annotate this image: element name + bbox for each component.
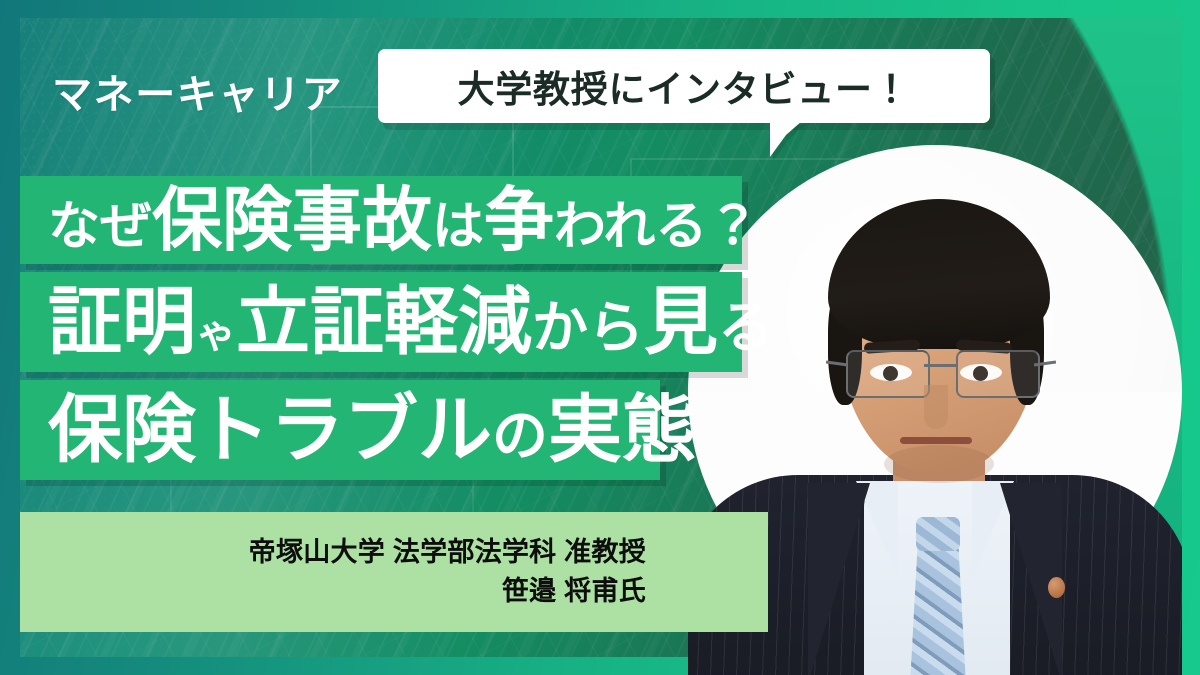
nose	[924, 385, 948, 429]
thumbnail-canvas: マネーキャリア 大学教授にインタビュー！	[0, 0, 1200, 675]
headline-3-seg-c: 実態	[548, 393, 696, 467]
headline-3-seg-b: の	[492, 408, 548, 464]
headline-line-2: 証明 ゃ 立証軽減 から 見 る	[20, 272, 742, 372]
brand-logo: マネーキャリア	[52, 62, 343, 120]
necktie-knot	[916, 517, 960, 551]
necktie	[910, 541, 966, 675]
lens-left	[846, 350, 930, 398]
headline-1-seg-b: 保険事故	[152, 185, 432, 255]
headline-3-seg-a: 保険トラブル	[48, 393, 492, 467]
interview-badge-label: 大学教授にインタビュー！	[458, 59, 911, 113]
hair-top	[828, 199, 1050, 349]
headline-2-seg-c: 立証軽減	[236, 285, 532, 359]
glasses-bridge	[924, 364, 958, 367]
credit-panel: 帝塚山大学 法学部法学科 准教授 笹邉 将甫氏	[20, 512, 768, 632]
headline-1-seg-d: 争	[484, 185, 554, 255]
headline-1-seg-e: われる？	[554, 201, 759, 253]
headline-2-seg-e: 見	[644, 285, 718, 359]
lapel-left	[808, 483, 870, 675]
headline-line-1: なぜ 保険事故 は 争 われる？	[20, 176, 742, 264]
headline-1-seg-a: なぜ	[48, 201, 152, 253]
headline-2-seg-d: から	[532, 300, 644, 356]
mouth	[900, 437, 972, 444]
interview-badge: 大学教授にインタビュー！	[378, 49, 990, 123]
lens-right	[956, 350, 1040, 398]
credit-name: 笹邉 将甫氏	[502, 572, 646, 611]
headline-line-3: 保険トラブル の 実態	[20, 380, 660, 480]
headline-2-seg-a: 証明	[48, 285, 196, 359]
headline-2-seg-b: ゃ	[196, 314, 236, 354]
lapel-pin	[1048, 577, 1065, 598]
credit-affiliation: 帝塚山大学 法学部法学科 准教授	[249, 533, 646, 572]
headline-1-seg-c: は	[432, 201, 484, 253]
chin-shadow	[884, 445, 994, 483]
headline-2-seg-f: る	[718, 300, 774, 356]
